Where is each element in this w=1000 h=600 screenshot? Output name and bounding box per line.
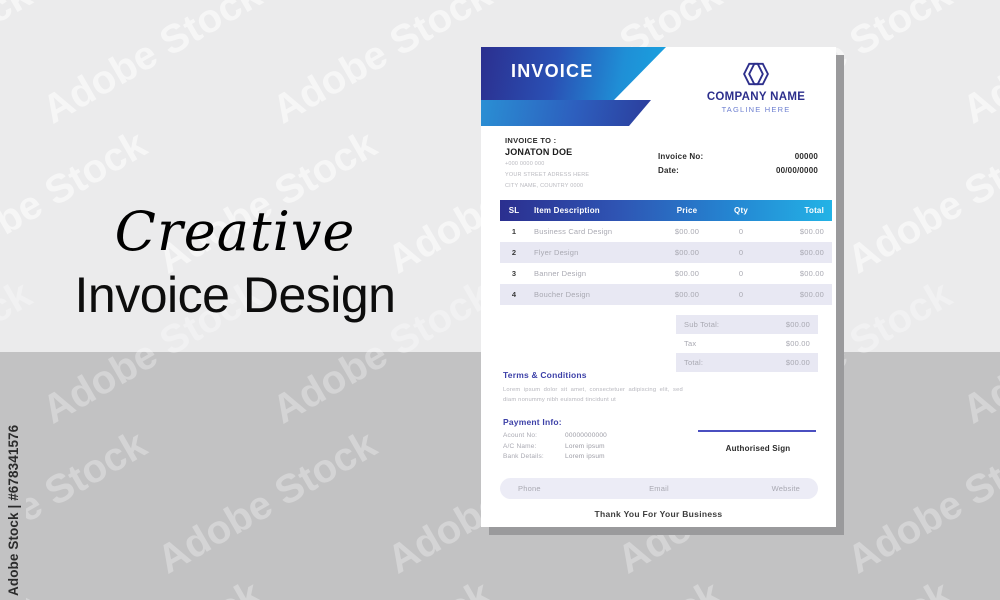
meta-key: Date: bbox=[658, 166, 679, 175]
invoice-card: INVOICE COMPANY NAME TAGLINE HERE INVOIC… bbox=[481, 47, 836, 527]
totals-key: Tax bbox=[676, 339, 696, 348]
cell-desc: Flyer Design bbox=[528, 242, 658, 263]
cell-price: $00.00 bbox=[658, 284, 716, 305]
totals-value: $00.00 bbox=[786, 358, 810, 367]
table-header-row: SL Item Description Price Qty Total bbox=[500, 200, 832, 221]
table-row: 4 Boucher Design $00.00 0 $00.00 bbox=[500, 284, 832, 305]
bill-to-block: INVOICE TO : JONATON DOE +000 0000 000 Y… bbox=[505, 136, 675, 190]
column-header-price: Price bbox=[658, 200, 716, 221]
cell-price: $00.00 bbox=[658, 221, 716, 242]
totals-row-total: Total: $00.00 bbox=[676, 353, 818, 372]
totals-key: Sub Total: bbox=[676, 320, 719, 329]
cell-total: $00.00 bbox=[766, 263, 832, 284]
invoice-meta: Invoice No: 00000 Date: 00/00/0000 bbox=[658, 152, 818, 180]
invoice-title: INVOICE bbox=[511, 61, 593, 82]
cell-total: $00.00 bbox=[766, 242, 832, 263]
bill-to-street: YOUR STREET ADRESS HERE bbox=[505, 171, 675, 180]
meta-row: Date: 00/00/0000 bbox=[658, 166, 818, 175]
payment-row: A/C Name: Lorem ipsum bbox=[503, 443, 693, 450]
cell-qty: 0 bbox=[716, 263, 766, 284]
bill-to-label: INVOICE TO : bbox=[505, 136, 675, 145]
contact-email: Email bbox=[612, 484, 706, 493]
payment-value: 00000000000 bbox=[565, 432, 607, 439]
payment-info-title: Payment Info: bbox=[503, 417, 693, 427]
contact-phone: Phone bbox=[518, 484, 612, 493]
totals-block: Sub Total: $00.00 Tax $00.00 Total: $00.… bbox=[676, 315, 818, 372]
payment-value: Lorem ipsum bbox=[565, 443, 605, 450]
cell-sl: 4 bbox=[500, 284, 528, 305]
terms-title: Terms & Conditions bbox=[503, 370, 683, 380]
cell-qty: 0 bbox=[716, 221, 766, 242]
totals-key: Total: bbox=[676, 358, 703, 367]
header-banner bbox=[481, 47, 666, 127]
terms-body: Lorem ipsum dolor sit amet, consectetuer… bbox=[503, 385, 683, 405]
bill-to-city: CITY NAME, COUNTRY 0000 bbox=[505, 182, 675, 191]
meta-value: 00000 bbox=[795, 152, 818, 161]
cell-qty: 0 bbox=[716, 242, 766, 263]
cell-desc: Boucher Design bbox=[528, 284, 658, 305]
banner-shape-secondary bbox=[481, 100, 651, 126]
signature-label: Authorised Sign bbox=[726, 444, 791, 453]
payment-row: Acount No: 00000000000 bbox=[503, 432, 693, 439]
company-block: COMPANY NAME TAGLINE HERE bbox=[681, 61, 831, 114]
cell-desc: Banner Design bbox=[528, 263, 658, 284]
stock-image-canvas: Adobe StockAdobe StockAdobe StockAdobe S… bbox=[0, 0, 1000, 600]
bill-to-phone: +000 0000 000 bbox=[505, 160, 675, 169]
column-header-qty: Qty bbox=[716, 200, 766, 221]
signature-block: Authorised Sign bbox=[698, 430, 818, 456]
cell-total: $00.00 bbox=[766, 221, 832, 242]
headline: Creative Invoice Design bbox=[0, 205, 470, 322]
totals-row-tax: Tax $00.00 bbox=[676, 334, 818, 353]
totals-value: $00.00 bbox=[786, 320, 810, 329]
cell-qty: 0 bbox=[716, 284, 766, 305]
items-table-body: 1 Business Card Design $00.00 0 $00.00 2… bbox=[500, 221, 832, 305]
payment-info-block: Payment Info: Acount No: 00000000000 A/C… bbox=[503, 417, 693, 464]
table-row: 1 Business Card Design $00.00 0 $00.00 bbox=[500, 221, 832, 242]
column-header-total: Total bbox=[766, 200, 832, 221]
table-row: 3 Banner Design $00.00 0 $00.00 bbox=[500, 263, 832, 284]
signature-line bbox=[698, 430, 816, 432]
bill-to-name: JONATON DOE bbox=[505, 147, 675, 157]
cell-price: $00.00 bbox=[658, 263, 716, 284]
payment-key: Bank Details: bbox=[503, 453, 565, 460]
totals-value: $00.00 bbox=[786, 339, 810, 348]
cell-sl: 3 bbox=[500, 263, 528, 284]
headline-script: Creative bbox=[0, 205, 470, 259]
column-header-desc: Item Description bbox=[528, 200, 658, 221]
cell-sl: 2 bbox=[500, 242, 528, 263]
cell-sl: 1 bbox=[500, 221, 528, 242]
payment-key: Acount No: bbox=[503, 432, 565, 439]
cell-desc: Business Card Design bbox=[528, 221, 658, 242]
company-tagline: TAGLINE HERE bbox=[681, 105, 831, 114]
totals-row-subtotal: Sub Total: $00.00 bbox=[676, 315, 818, 334]
adobe-stock-credit: Adobe Stock | #678341576 bbox=[0, 352, 26, 600]
payment-key: A/C Name: bbox=[503, 443, 565, 450]
payment-value: Lorem ipsum bbox=[565, 453, 605, 460]
column-header-sl: SL bbox=[500, 200, 528, 221]
table-row: 2 Flyer Design $00.00 0 $00.00 bbox=[500, 242, 832, 263]
meta-key: Invoice No: bbox=[658, 152, 703, 161]
terms-block: Terms & Conditions Lorem ipsum dolor sit… bbox=[503, 370, 683, 405]
company-name: COMPANY NAME bbox=[681, 91, 831, 103]
cell-price: $00.00 bbox=[658, 242, 716, 263]
meta-value: 00/00/0000 bbox=[776, 166, 818, 175]
contact-website: Website bbox=[706, 484, 800, 493]
cell-total: $00.00 bbox=[766, 284, 832, 305]
headline-block: Invoice Design bbox=[0, 269, 470, 322]
payment-row: Bank Details: Lorem ipsum bbox=[503, 453, 693, 460]
double-hexagon-logo-icon bbox=[739, 61, 773, 87]
items-table: SL Item Description Price Qty Total 1 Bu… bbox=[500, 200, 832, 305]
contact-bar: Phone Email Website bbox=[500, 478, 818, 499]
footer-thank-you: Thank You For Your Business bbox=[481, 509, 836, 519]
meta-row: Invoice No: 00000 bbox=[658, 152, 818, 161]
items-table-head: SL Item Description Price Qty Total bbox=[500, 200, 832, 221]
